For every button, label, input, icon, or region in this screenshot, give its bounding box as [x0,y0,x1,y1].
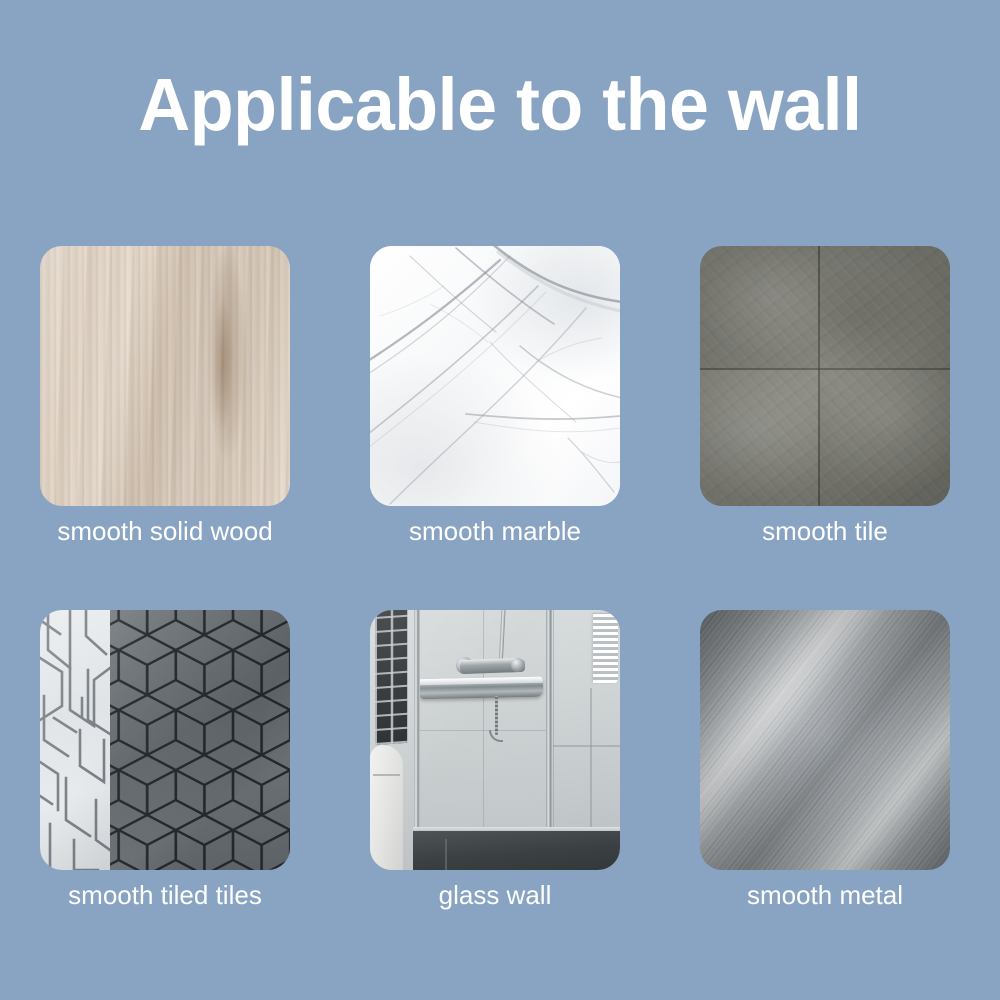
metal-vignette-overlay [700,610,950,870]
wall-vent-grille [593,613,618,683]
glass-wall-photo [370,610,620,870]
tile-card-smooth-marble[interactable]: smooth marble [370,246,620,506]
wood-texture-image [40,246,290,506]
geometric-tile-texture-image [40,610,290,870]
dark-tiled-floor [413,831,621,870]
tile-vignette-overlay [700,246,950,506]
white-cistern [370,745,403,870]
cistern-seam [373,774,401,776]
concrete-tile-texture-image [700,246,950,506]
geo-sheen-overlay [40,610,290,870]
marble-veins [370,246,620,506]
tile-label-smooth-tiled-tiles: smooth tiled tiles [40,882,290,908]
tile-label-smooth-marble: smooth marble [370,518,620,544]
tile-label-smooth-metal: smooth metal [700,882,950,908]
surface-tile-grid: smooth solid wood [40,246,964,926]
tile-card-smooth-metal[interactable]: smooth metal [700,610,950,870]
page-title: Applicable to the wall [15,68,985,142]
tile-label-glass-wall: glass wall [370,882,620,908]
wall-grout-line-4 [553,745,621,747]
tile-card-smooth-tiled-tiles[interactable]: smooth tiled tiles [40,610,290,870]
wood-sheen-overlay [40,246,290,506]
tile-card-smooth-tile[interactable]: smooth tile [700,246,950,506]
marble-texture-image [370,246,620,506]
tile-card-glass-wall[interactable]: glass wall [370,610,620,870]
wall-grout-line-3 [553,610,555,834]
dark-mosaic-tile-strip [375,610,408,745]
floor-grout-line [445,839,447,870]
tile-label-smooth-tile: smooth tile [700,518,950,544]
tile-label-smooth-solid-wood: smooth solid wood [40,518,290,544]
tile-card-smooth-solid-wood[interactable]: smooth solid wood [40,246,290,506]
brushed-metal-texture-image [700,610,950,870]
